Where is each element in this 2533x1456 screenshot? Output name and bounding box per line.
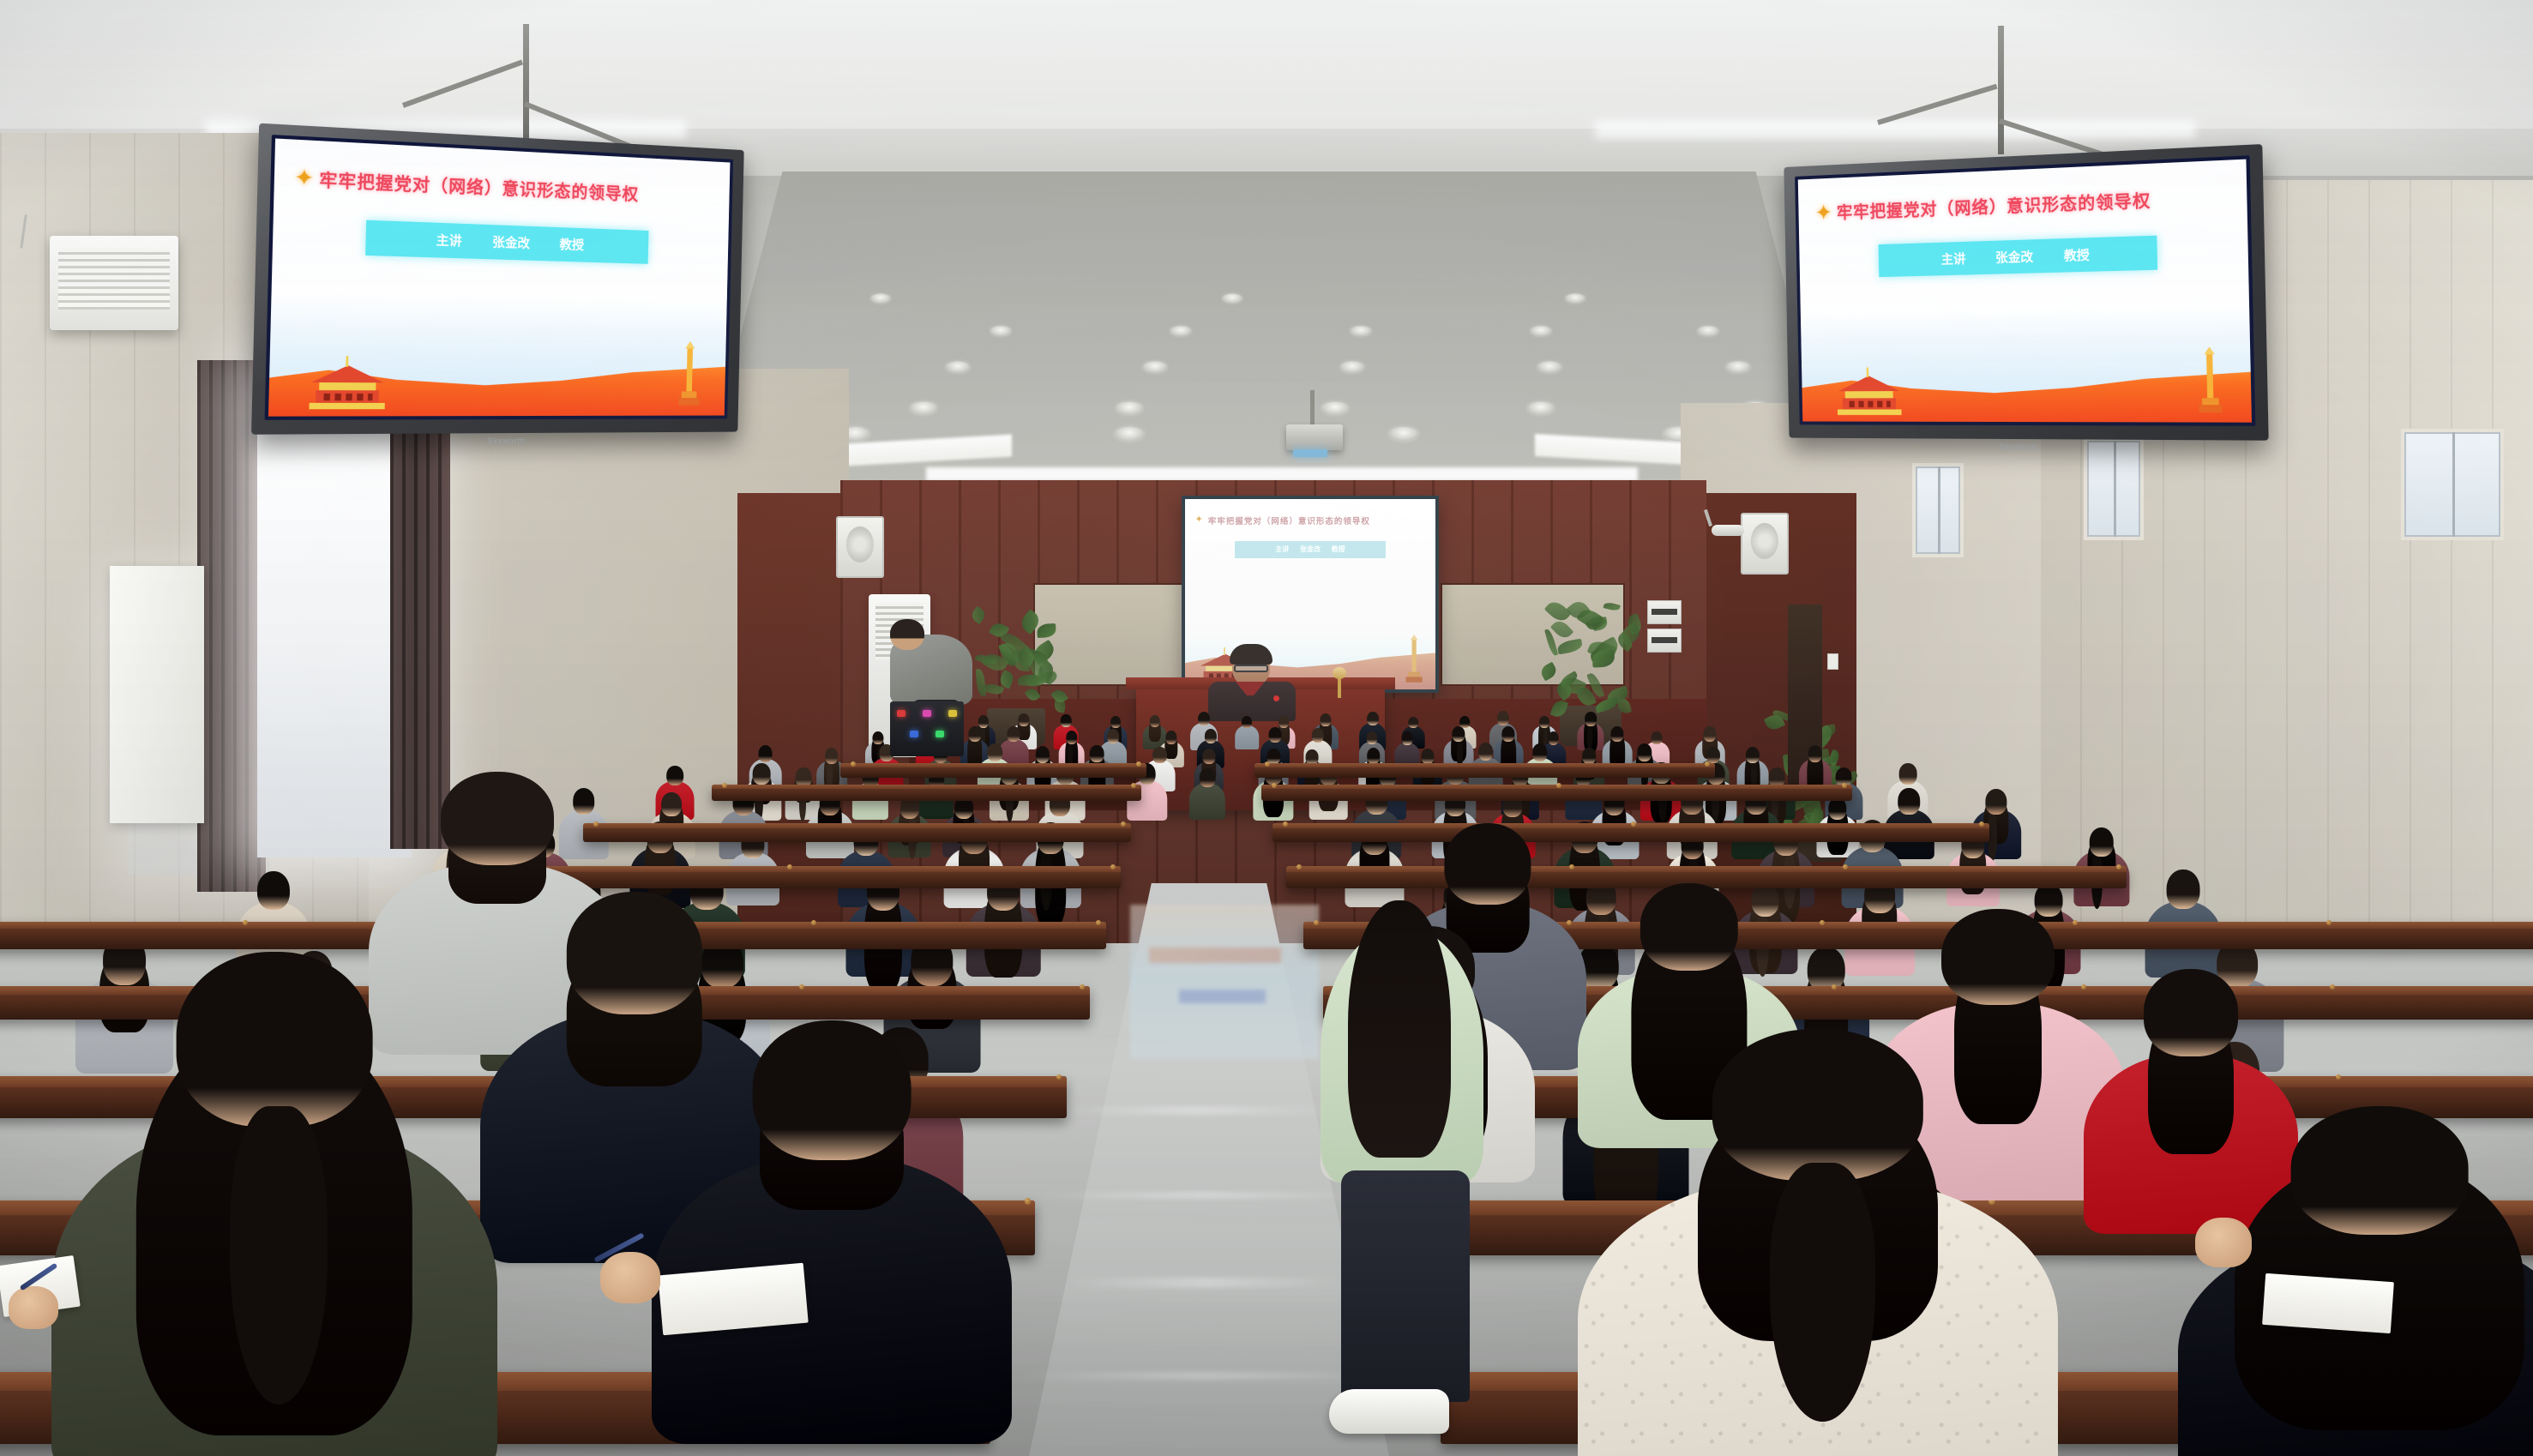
ceiling-downlight — [1389, 427, 1418, 441]
audience-head — [1019, 713, 1030, 727]
audience-head — [1008, 726, 1020, 742]
monument-icon — [2187, 346, 2232, 415]
bench-knob — [1265, 761, 1270, 767]
audience-head — [1452, 726, 1465, 742]
audience-torso — [1235, 725, 1259, 749]
plant-leaf — [1024, 686, 1040, 702]
white-cabinet — [110, 566, 204, 823]
audience-head — [1205, 729, 1217, 743]
projector-mount-stem — [1310, 390, 1315, 429]
monument-icon — [670, 341, 709, 408]
audience-ponytail — [230, 1106, 328, 1405]
party-emblem-icon: ✦ — [1815, 202, 1832, 224]
high-window-1 — [1912, 463, 1964, 557]
bench-row-left — [840, 763, 1146, 778]
audience-head — [872, 731, 883, 745]
bench-knob — [2116, 864, 2121, 869]
audience-member-foreground-cream-knit — [1578, 1029, 2058, 1456]
audience-head — [753, 763, 771, 785]
ceiling-downlight — [1726, 361, 1750, 372]
audience-head — [758, 745, 773, 762]
audience-head — [2166, 869, 2199, 909]
audience-head — [1061, 714, 1072, 727]
audience-head — [1582, 748, 1596, 764]
tiananmen-gate-icon — [284, 355, 412, 411]
projection-presenter-rank: 教授 — [1332, 544, 1345, 554]
audience-head — [1808, 745, 1822, 762]
ceiling-downlight — [1116, 402, 1142, 415]
bench-knob — [1272, 783, 1277, 788]
bench-knob — [1110, 864, 1116, 869]
projection-presenter-name: 张金改 — [1300, 544, 1321, 554]
audience-head — [661, 792, 682, 816]
lecture-hall-scene: ✦ 牢牢把握党对（网络）意识形态的领导权 主讲 张金改 教授 — [0, 0, 2533, 1456]
plant-leaf — [1592, 649, 1615, 667]
audience-head — [1746, 747, 1760, 763]
hand-right — [2195, 1218, 2252, 1267]
audience-torso — [1189, 783, 1225, 819]
bench-row-right — [1261, 785, 1852, 801]
audience-head — [753, 1020, 912, 1160]
audience-member — [1578, 712, 1604, 752]
left-tv-brandmark: Skyworth — [488, 436, 526, 445]
bench-knob — [2336, 1074, 2341, 1080]
audience-head — [1367, 748, 1381, 764]
projection-presenter-bar: 主讲 张金改 教授 — [1235, 541, 1385, 558]
audience-head — [1320, 713, 1331, 727]
audience-ponytail — [1770, 1163, 1875, 1422]
curtain-left-outer — [197, 360, 266, 892]
audience-head — [1401, 731, 1412, 744]
projection-slide-title: 牢牢把握党对（网络）意识形态的领导权 — [1208, 514, 1370, 526]
rack-led-indicator — [910, 731, 918, 737]
right-tv-brandmark: Skyworth — [2000, 442, 2037, 451]
ceiling-downlight — [1222, 294, 1242, 304]
standing-attendee-hair — [1348, 900, 1451, 1158]
bench-knob — [799, 984, 804, 990]
shoe-icon — [1329, 1389, 1449, 1434]
audience-head — [1268, 727, 1281, 743]
ceiling-projector — [1286, 424, 1343, 450]
audience-head — [2089, 827, 2114, 857]
bench-knob — [1025, 1198, 1032, 1205]
audience-head — [2291, 1106, 2469, 1235]
audience-head — [666, 766, 683, 785]
bench-knob — [1705, 761, 1710, 767]
ceiling-downlight — [870, 294, 890, 304]
plant-leaf — [1539, 661, 1559, 680]
rack-led-indicator — [948, 710, 957, 717]
right-tv-role-label: 主讲 — [1940, 250, 1965, 268]
monument-icon — [1403, 635, 1425, 684]
audience-head — [1532, 743, 1547, 761]
right-wall-tv[interactable]: ✦ 牢牢把握党对（网络）意识形态的领导权 主讲 张金改 教授 — [1784, 144, 2268, 441]
audience-head — [1198, 712, 1210, 726]
ceiling-downlight — [1565, 294, 1585, 304]
audience-head — [567, 892, 702, 1014]
left-tv-presenter-rank: 教授 — [559, 235, 584, 254]
audience-head — [1444, 823, 1531, 905]
plant-leaf — [1051, 687, 1069, 705]
ceiling-downlight — [910, 402, 936, 415]
audience-head — [1366, 731, 1377, 745]
projection-role-label: 主讲 — [1275, 544, 1289, 554]
audience-member — [1235, 716, 1259, 752]
standing-attendee-in-aisle — [1303, 926, 1501, 1456]
light-switch[interactable] — [1827, 653, 1838, 670]
audience-head — [1202, 749, 1215, 764]
audience-head — [177, 952, 373, 1127]
high-window-2 — [2084, 437, 2144, 540]
audience-head — [1640, 883, 1738, 971]
audience-head — [1110, 716, 1121, 728]
wall-control-panel-upper[interactable] — [1647, 600, 1682, 624]
audience-head — [1107, 729, 1119, 743]
bench-knob — [2326, 920, 2331, 925]
ceiling-upper-plane — [0, 0, 2533, 137]
bench-knob — [1314, 920, 1319, 925]
podium-microphone — [1333, 667, 1346, 679]
audience-head — [1312, 728, 1325, 743]
ceiling-downlight — [1531, 326, 1551, 336]
audience-head — [2144, 969, 2238, 1056]
hand-far-left — [9, 1286, 58, 1329]
right-tv-presenter-name: 张金改 — [1995, 247, 2033, 266]
av-control-rack[interactable] — [890, 701, 964, 756]
audience-head — [1165, 731, 1176, 744]
notebook-foreground-right — [2262, 1273, 2394, 1333]
wall-speaker-right — [1741, 513, 1789, 575]
audience-head — [441, 772, 554, 865]
audience-head — [1611, 726, 1624, 742]
bench-knob — [1096, 920, 1101, 925]
audience-head — [1200, 768, 1216, 787]
ceiling-downlight — [1351, 326, 1371, 336]
technician-head — [890, 619, 924, 650]
bench-knob — [1080, 984, 1085, 990]
bench-row-left — [583, 823, 1131, 842]
bench-knob — [1131, 783, 1136, 788]
wall-control-panel-lower[interactable] — [1647, 629, 1682, 653]
bench-knob — [1820, 920, 1825, 925]
plant-leaf — [1037, 624, 1056, 639]
high-window-3 — [2401, 429, 2504, 540]
left-tv-presenter-name: 张金改 — [492, 232, 530, 251]
rack-led-indicator — [897, 710, 906, 717]
ceiling-downlight — [946, 361, 970, 372]
standing-attendee-legs — [1341, 1170, 1470, 1402]
plant-leaf — [1556, 639, 1583, 655]
ceiling-downlight — [1143, 361, 1167, 372]
ceiling-downlight — [1170, 326, 1191, 336]
ceiling-downlight — [1537, 361, 1561, 372]
bench-knob — [722, 783, 727, 788]
bench-knob — [1842, 783, 1847, 788]
audience-head — [1898, 763, 1916, 785]
tiananmen-gate-icon — [1814, 367, 1925, 417]
screen-floor-reflection — [1130, 905, 1319, 1059]
rack-led-indicator — [936, 731, 944, 737]
audience-head — [1478, 743, 1494, 761]
party-emblem-icon: ✦ — [294, 165, 315, 190]
ceiling-downlight — [1115, 427, 1144, 441]
audience-head — [1706, 747, 1720, 763]
hand-holding-pen-left — [600, 1252, 660, 1303]
ceiling-downlight — [1340, 361, 1364, 372]
audience-head — [1408, 717, 1418, 729]
bench-row-left — [712, 785, 1141, 801]
rack-led-indicator — [923, 710, 931, 717]
ceiling-downlight — [990, 326, 1011, 336]
bench-row-right — [1254, 763, 1715, 778]
cove-light-upper-right — [1595, 120, 2195, 139]
audience-member-charcoal-left — [652, 1020, 1012, 1432]
right-tv-presenter-rank: 教授 — [2064, 245, 2090, 264]
audience-head — [1497, 711, 1509, 725]
wall-speaker-left — [836, 516, 884, 578]
left-tv-role-label: 主讲 — [436, 231, 461, 250]
floor-highlight — [1055, 1106, 1338, 1115]
bench-knob — [851, 761, 856, 767]
audience-head — [1985, 789, 2007, 815]
audience-head — [1539, 716, 1549, 728]
audience-member-foreground-olive — [51, 952, 497, 1456]
audience-head — [1421, 749, 1434, 764]
audience-head — [978, 715, 989, 728]
audience-head — [1036, 746, 1050, 762]
lapel-badge-icon — [1273, 695, 1279, 701]
bench-knob — [1832, 984, 1837, 990]
audience-head — [1585, 712, 1597, 725]
ceiling-downlight — [1527, 402, 1554, 415]
projector-lens-icon — [1293, 449, 1327, 457]
glasses-icon — [1234, 665, 1268, 672]
cove-light-front — [926, 467, 1638, 481]
audience-head — [1152, 747, 1166, 763]
notebook-foreground-left — [658, 1263, 808, 1336]
audience-head — [987, 743, 1002, 761]
plant-leaf — [1603, 601, 1621, 612]
tv-left-mount — [523, 24, 529, 141]
audience-head — [1306, 749, 1319, 765]
wall-mounted-air-conditioner — [50, 236, 178, 330]
presenter — [1205, 647, 1299, 716]
party-emblem-icon: ✦ — [1195, 515, 1203, 525]
audience-head — [1712, 1029, 1923, 1181]
ceiling-security-camera — [1706, 525, 1744, 538]
audience-head — [1502, 726, 1515, 742]
bench-knob — [1056, 1074, 1062, 1080]
audience-head — [1941, 909, 2055, 1005]
audience-head — [1637, 743, 1652, 761]
audience-head — [825, 748, 839, 764]
ceiling-downlight — [1698, 326, 1718, 336]
audience-head — [1150, 715, 1160, 728]
audience-head — [1066, 731, 1077, 744]
left-wall-tv[interactable]: ✦ 牢牢把握党对（网络）意识形态的领导权 主讲 张金改 教授 — [251, 123, 744, 435]
bench-knob — [1979, 821, 1984, 827]
audience-head — [1367, 712, 1379, 726]
audience-head — [257, 871, 290, 910]
audience-head — [1090, 745, 1104, 762]
audience-head — [1242, 716, 1252, 728]
tv-right-mount — [1998, 26, 2004, 154]
audience-head — [1704, 726, 1717, 742]
audience-member — [1189, 768, 1225, 823]
audience-head — [1898, 788, 1920, 814]
audience-head — [1652, 731, 1663, 745]
ceiling-downlight — [1321, 402, 1348, 415]
bench-knob — [1297, 864, 1302, 869]
bench-row-right — [1273, 823, 1989, 842]
